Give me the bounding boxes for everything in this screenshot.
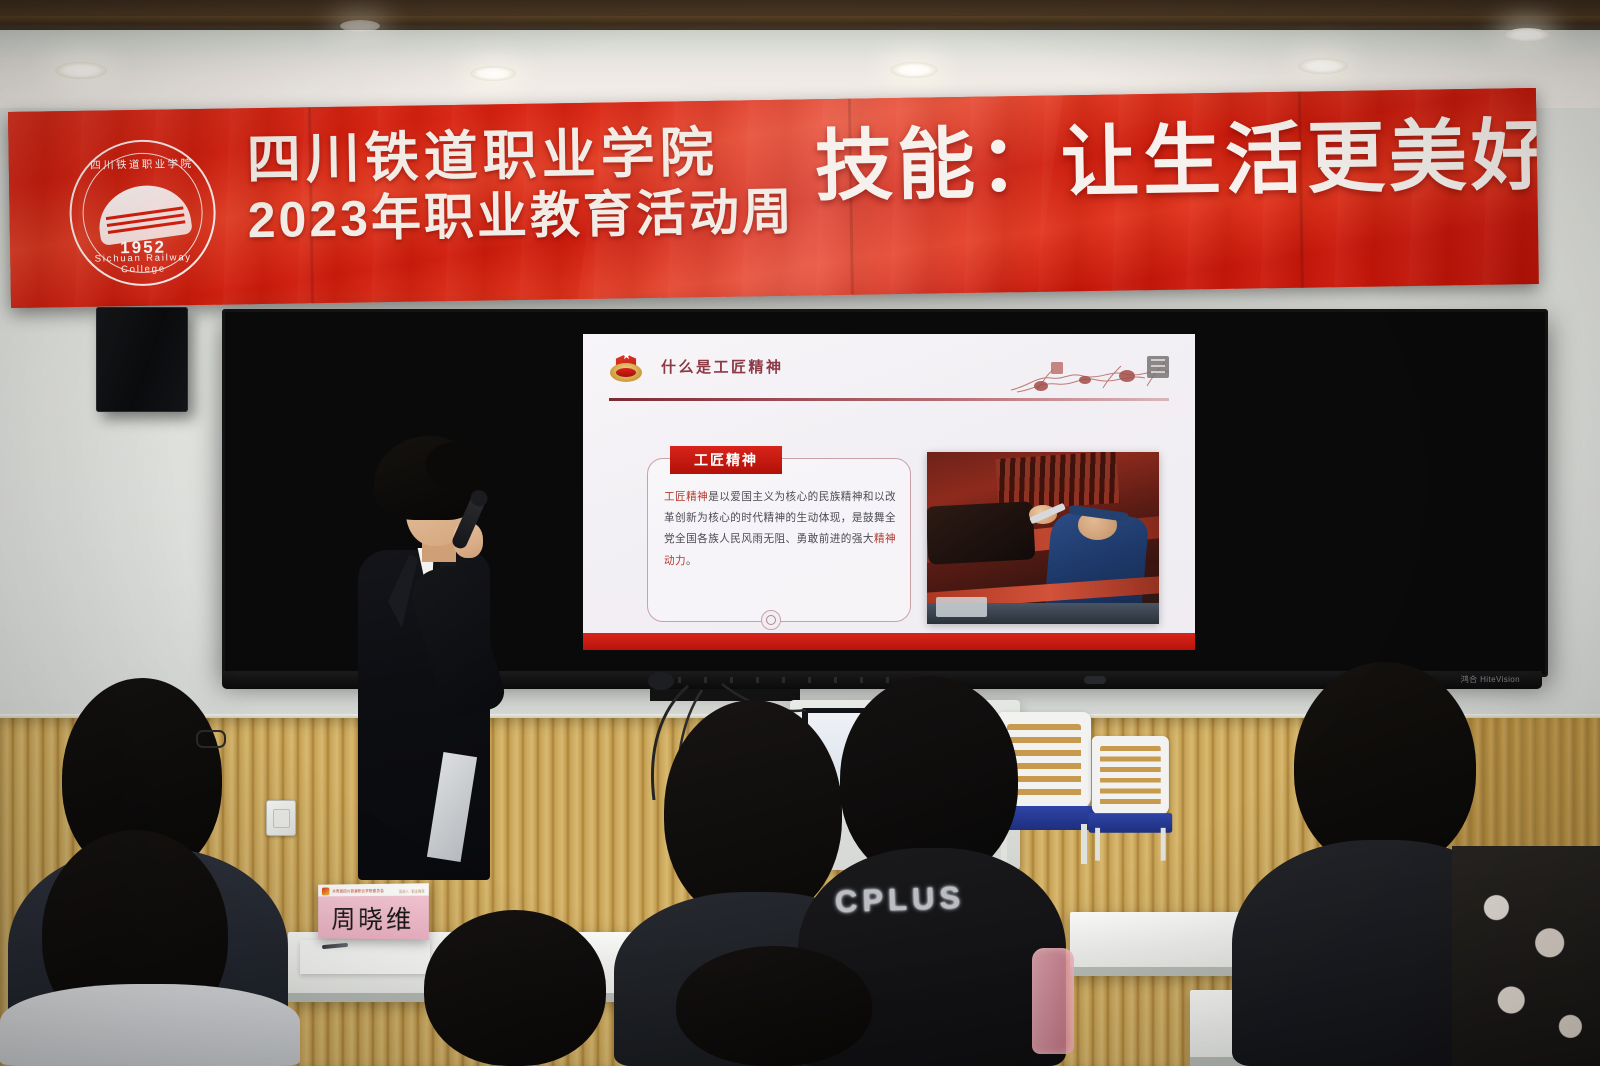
- lecture-hall-scene: 四川铁道职业学院 1952 Sichuan Railway College 四川…: [0, 0, 1600, 1066]
- placard-name-text: 周晓维: [318, 900, 429, 937]
- ceiling-downlight: [470, 66, 516, 81]
- placard-emblem-icon: [322, 888, 330, 896]
- wall-speaker: [96, 307, 188, 412]
- ceiling-downlight: [1298, 58, 1348, 74]
- slide-header-rule: [609, 398, 1169, 401]
- placard-header: 共青团四川铁道职业学院委员会 宣讲人 · 职业教育: [322, 885, 425, 896]
- display-brand-label: 鸿合 HiteVision: [1461, 674, 1520, 685]
- placard-sub-text: 宣讲人 · 职业教育: [399, 888, 425, 893]
- slide-footer-bar: [583, 633, 1195, 650]
- card-body-highlight: 工匠精神: [664, 491, 708, 503]
- concept-card: 工匠精神 工匠精神是以爱国主义为核心的民族精神和以改革创新为核心的时代精神的生动…: [647, 458, 911, 622]
- communist-youth-league-emblem-icon: [609, 350, 643, 384]
- college-seal-logo: 四川铁道职业学院 1952 Sichuan Railway College: [68, 139, 216, 287]
- card-tag-label: 工匠精神: [670, 446, 782, 474]
- jacket-text-cplus: CPLUS: [834, 880, 965, 921]
- audience-glasses-icon: [196, 730, 226, 748]
- chair: [1082, 736, 1179, 859]
- audience-head: [424, 910, 606, 1066]
- chair-slats: [1007, 724, 1081, 798]
- chair-backrest: [1092, 736, 1169, 815]
- emblem-ring: [610, 363, 642, 382]
- audience-shoulders: [0, 984, 300, 1066]
- slide-header: 什么是工匠精神: [583, 348, 1195, 398]
- seal-arc-top-text: 四川铁道职业学院: [71, 156, 213, 173]
- chair-leg: [1095, 828, 1100, 861]
- display-ir-sensor: [1084, 676, 1106, 684]
- ink-painting-decoration: [1007, 346, 1185, 398]
- audience-head: [664, 700, 842, 922]
- slide-title: 什么是工匠精神: [661, 356, 784, 377]
- ceiling-trim: [0, 16, 1600, 30]
- audience-floral-garment: [1452, 846, 1600, 1066]
- card-body-end: 。: [686, 555, 697, 567]
- slide-photo-railway-worker: [927, 452, 1159, 624]
- ceiling-downlight: [55, 62, 107, 79]
- ceiling-downlight: [890, 62, 938, 78]
- gooseneck-microphone-head: [648, 672, 674, 690]
- audience-head: [1294, 662, 1476, 870]
- water-bottle[interactable]: [1032, 948, 1074, 1054]
- seal-arc-bottom-text: Sichuan Railway College: [72, 252, 214, 276]
- banner-slogan: 技能：让生活更美好: [814, 116, 1539, 206]
- banner-org-line1: 四川铁道职业学院: [246, 123, 807, 188]
- card-body-text: 工匠精神是以爱国主义为核心的民族精神和以改革创新为核心的时代精神的生动体现，是鼓…: [664, 487, 896, 572]
- name-placard: 共青团四川铁道职业学院委员会 宣讲人 · 职业教育 周晓维: [318, 883, 429, 940]
- card-knob-decoration: [761, 610, 781, 630]
- banner-org-line2: 2023年职业教育活动周: [247, 186, 808, 247]
- paper-sheet: [300, 940, 430, 974]
- chair-seat: [1089, 813, 1173, 833]
- presenter: [330, 436, 508, 876]
- desk: [1070, 912, 1250, 976]
- desk-edge: [1070, 967, 1250, 976]
- audience-head: [676, 946, 872, 1066]
- photo-equipment: [936, 597, 987, 618]
- wall-switch[interactable]: [266, 800, 296, 836]
- chair-leg: [1161, 828, 1166, 861]
- presentation-slide: 什么是工匠精神: [583, 334, 1195, 650]
- ceiling-downlight: [340, 20, 380, 32]
- ceiling-downlight: [1505, 28, 1549, 42]
- chair-slats: [1100, 746, 1161, 807]
- photo-machinery: [927, 501, 1035, 565]
- event-banner: 四川铁道职业学院 1952 Sichuan Railway College 四川…: [8, 88, 1539, 308]
- placard-org-text: 共青团四川铁道职业学院委员会: [332, 888, 384, 893]
- banner-org-block: 四川铁道职业学院 2023年职业教育活动周: [246, 123, 808, 246]
